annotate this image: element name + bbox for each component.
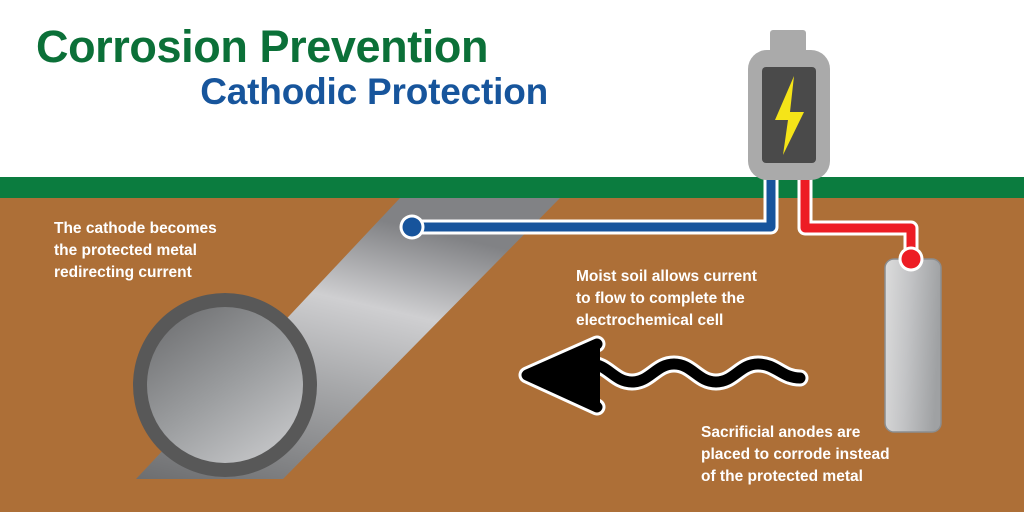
annotation-moist-soil: Moist soil allows current to flow to com… [576,266,826,332]
anode-terminal-dot [902,250,921,269]
page-subtitle: Cathodic Protection [36,71,676,112]
annotation-sacrificial-anode: Sacrificial anodes are placed to corrode… [701,422,961,488]
title-block: Corrosion Prevention Cathodic Protection [36,24,676,112]
current-flow-arrow [527,344,800,407]
anode-terminal [899,247,924,272]
sacrificial-anode [885,259,941,432]
cathode-wire [400,150,772,240]
cathode-terminal-dot [403,218,422,237]
page-title: Corrosion Prevention [36,24,676,71]
annotation-cathode: The cathode becomes the protected metal … [54,218,294,284]
pipe-inner-face [147,307,303,463]
anode-block [885,259,941,432]
dc-power-source [748,30,830,180]
corrosion-prevention-infographic: Corrosion Prevention Cathodic Protection [0,0,1024,512]
